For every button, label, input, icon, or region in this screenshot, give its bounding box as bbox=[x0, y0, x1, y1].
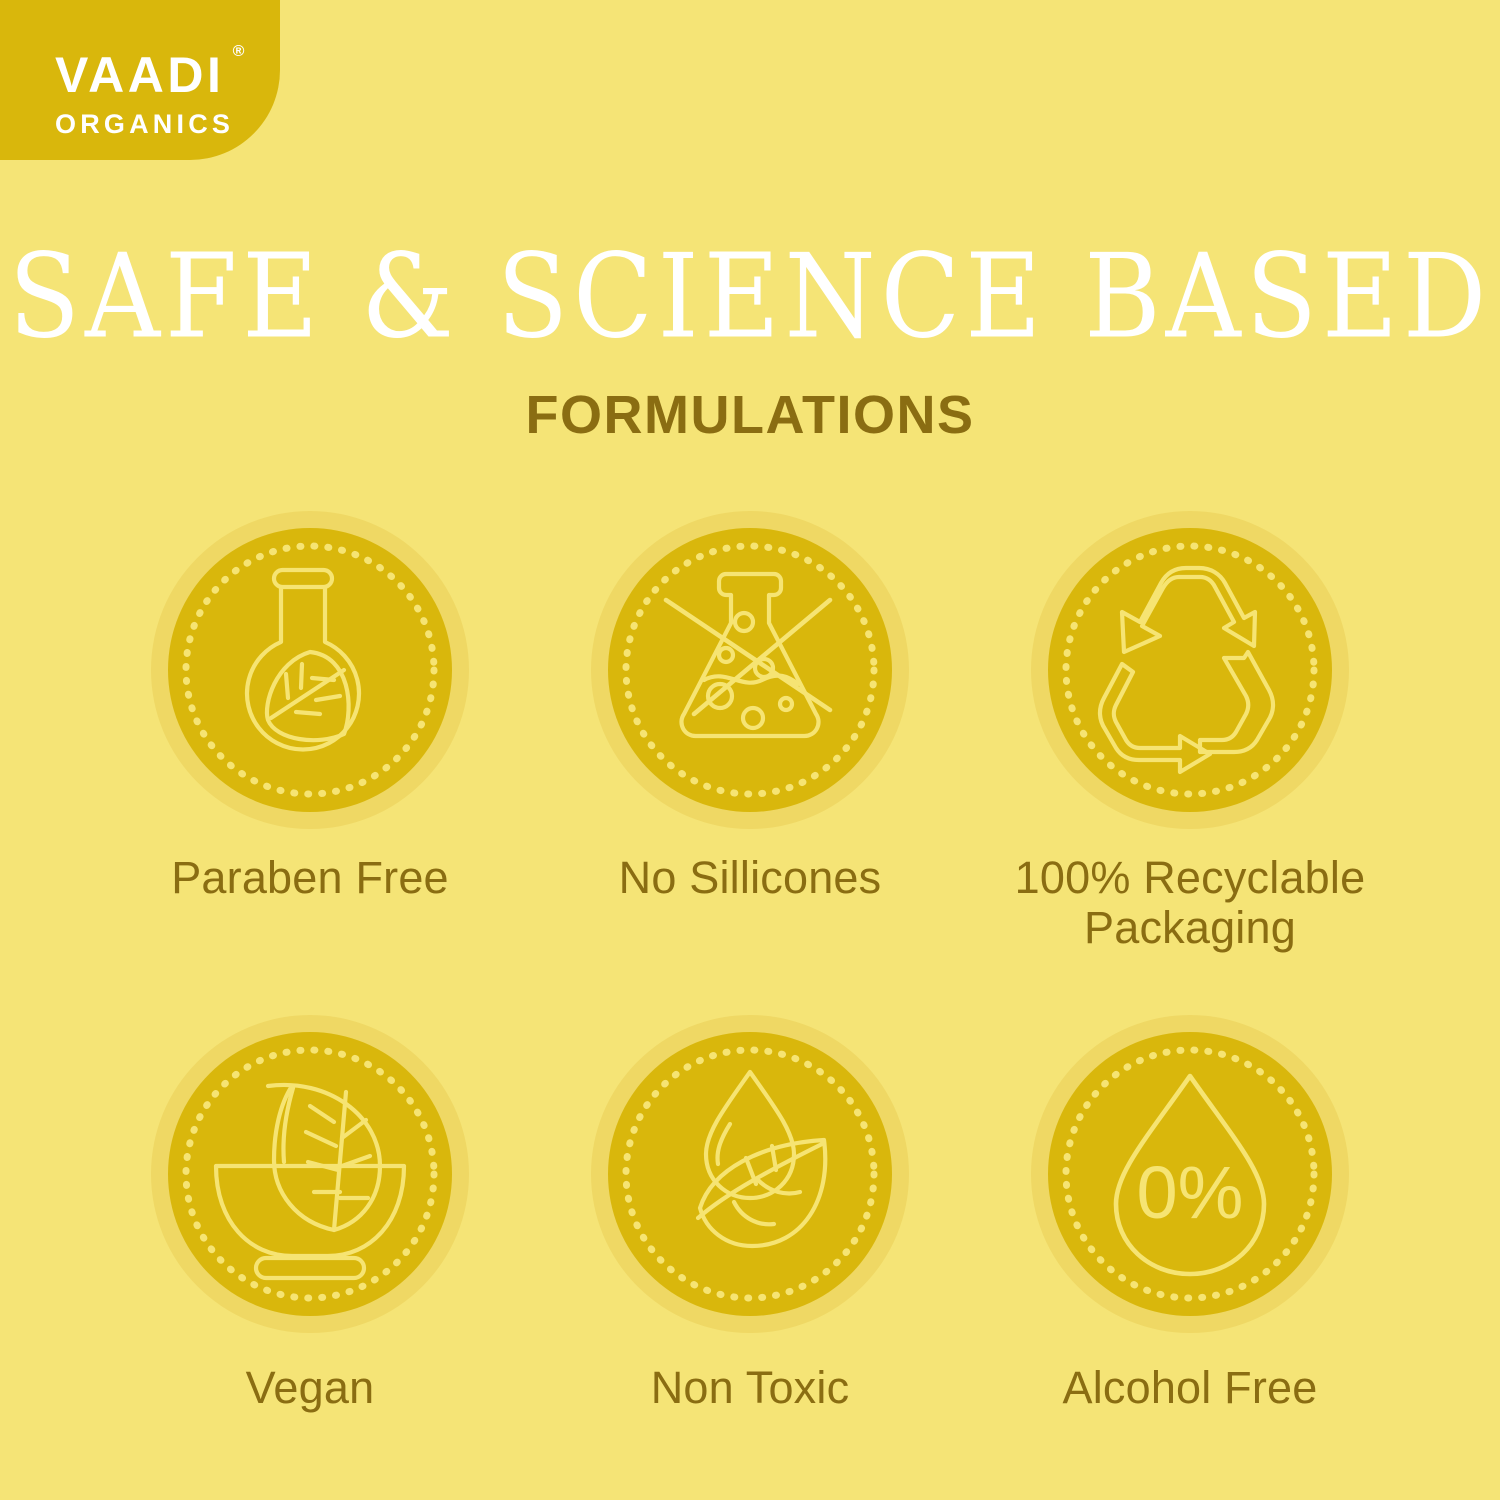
page-subtitle: FORMULATIONS bbox=[0, 388, 1500, 442]
feature-item-alcohol-free: 0% Alcohol Free bbox=[970, 1009, 1410, 1413]
no-silicones-flask-icon bbox=[608, 528, 892, 812]
brand-logo: VAADI® ORGANICS bbox=[0, 0, 280, 160]
badge-non-toxic bbox=[585, 1009, 915, 1339]
zero-percent-text: 0% bbox=[1137, 1151, 1244, 1234]
feature-label: Alcohol Free bbox=[1062, 1363, 1317, 1413]
page-title: SAFE & SCIENCE BASED bbox=[0, 238, 1500, 354]
badge-no-sillicones bbox=[585, 505, 915, 835]
feature-label: No Sillicones bbox=[619, 853, 882, 903]
feature-item-no-sillicones: No Sillicones bbox=[530, 505, 970, 954]
feature-label: Non Toxic bbox=[651, 1363, 850, 1413]
brand-name-text: VAADI bbox=[55, 47, 224, 103]
bowl-leaf-icon bbox=[168, 1032, 452, 1316]
feature-item-recyclable-packaging: 100% Recyclable Packaging bbox=[970, 505, 1410, 954]
droplet-leaf-icon bbox=[608, 1032, 892, 1316]
badge-alcohol-free: 0% bbox=[1025, 1009, 1355, 1339]
feature-item-vegan: Vegan bbox=[90, 1009, 530, 1413]
badge-vegan bbox=[145, 1009, 475, 1339]
badge-recyclable-packaging bbox=[1025, 505, 1355, 835]
feature-label: Paraben Free bbox=[171, 853, 449, 903]
registered-trademark-icon: ® bbox=[233, 44, 245, 60]
recycle-icon bbox=[1048, 528, 1332, 812]
feature-item-paraben-free: Paraben Free bbox=[90, 505, 530, 954]
promo-graphic-page: { "brand": { "name": "VAADI", "trademark… bbox=[0, 0, 1500, 1500]
feature-item-non-toxic: Non Toxic bbox=[530, 1009, 970, 1413]
droplet-zero-percent-icon: 0% bbox=[1048, 1032, 1332, 1316]
brand-tagline: ORGANICS bbox=[55, 111, 234, 138]
badge-paraben-free bbox=[145, 505, 475, 835]
brand-name: VAADI® bbox=[55, 50, 224, 100]
feature-grid: Paraben Free bbox=[90, 505, 1410, 1413]
flask-leaf-icon bbox=[168, 528, 452, 812]
feature-label: 100% Recyclable Packaging bbox=[975, 853, 1405, 954]
feature-label: Vegan bbox=[246, 1363, 375, 1413]
